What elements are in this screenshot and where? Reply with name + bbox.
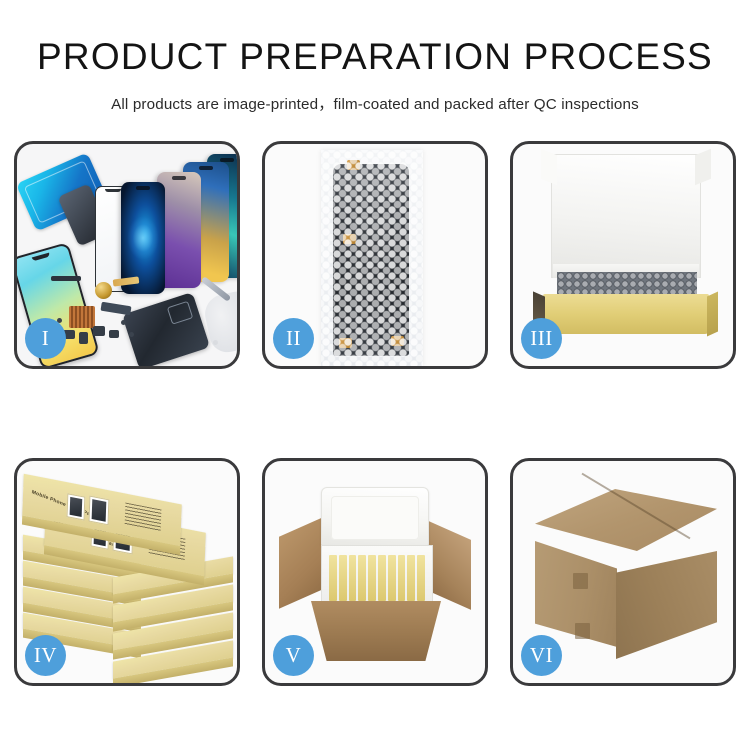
carton-side-face — [616, 551, 717, 659]
step-badge-1: I — [25, 318, 66, 359]
inner-box-3 — [349, 555, 357, 601]
yellow-inner-box-tray — [543, 294, 709, 334]
vibration-motor — [93, 326, 105, 336]
inner-box-9 — [407, 555, 415, 601]
carton-body-open — [311, 601, 441, 661]
bubble-texture-back — [321, 150, 423, 366]
carton-tab-upper — [573, 573, 588, 589]
process-step-panel-1: I — [14, 141, 240, 369]
sim-tray — [79, 332, 88, 344]
step-badge-3: III — [521, 318, 562, 359]
inner-box-5 — [368, 555, 376, 601]
product-preparation-infographic: PRODUCT PREPARATION PROCESS All products… — [0, 0, 750, 750]
inner-box-4 — [358, 555, 366, 601]
speaker-module — [51, 276, 81, 281]
phone-back-housing — [122, 292, 210, 369]
retail-box-label-1: Mobile Phone Spare Parts — [31, 489, 97, 520]
header: PRODUCT PREPARATION PROCESS All products… — [0, 0, 750, 114]
battery-connector — [109, 330, 119, 338]
page-title: PRODUCT PREPARATION PROCESS — [0, 38, 750, 75]
inner-box-6 — [378, 555, 386, 601]
step-badge-6: VI — [521, 635, 562, 676]
copper-heatsink-mesh — [69, 306, 95, 328]
inner-box-8 — [398, 555, 406, 601]
process-step-panel-4: Mobile Phone Spare Parts Mobile Phone Sp… — [14, 458, 240, 686]
process-step-panel-3: III — [510, 141, 736, 369]
page-subtitle: All products are image-printed，film-coat… — [0, 92, 750, 114]
step-badge-2: II — [273, 318, 314, 359]
inner-box-2 — [339, 555, 347, 601]
process-step-panel-5: V — [262, 458, 488, 686]
step-badge-5: V — [273, 635, 314, 676]
inner-box-1 — [329, 555, 337, 601]
inner-box-7 — [388, 555, 396, 601]
yellow-boxes-inside — [329, 555, 425, 601]
screw-2 — [129, 332, 134, 337]
styrofoam-lid — [321, 487, 429, 549]
process-step-grid: I II — [14, 141, 736, 686]
wireless-charging-coil — [95, 282, 112, 299]
step-badge-4: IV — [25, 635, 66, 676]
process-step-panel-2: II — [262, 141, 488, 369]
inner-box-10 — [417, 555, 425, 601]
screw-1 — [121, 320, 126, 325]
process-step-panel-6: VI — [510, 458, 736, 686]
white-foam-sheet — [551, 154, 701, 278]
flex-cable-dark — [100, 302, 131, 316]
carton-tab-lower — [575, 623, 590, 639]
bubble-wrap-bag — [321, 150, 423, 366]
